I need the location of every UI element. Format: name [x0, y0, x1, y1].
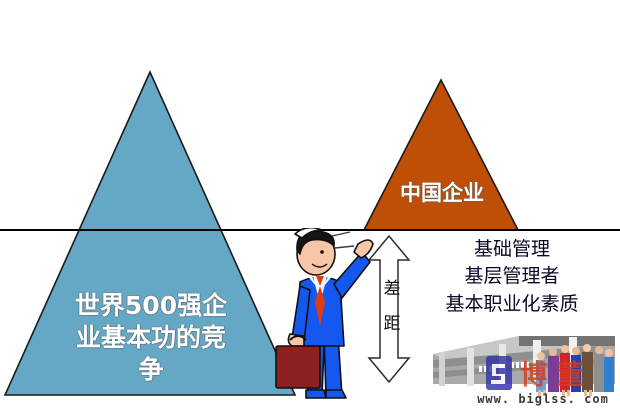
svg-text:博 董: 博 董: [520, 359, 583, 391]
pyramid-chinese-enterprise: [356, 72, 531, 236]
diagram-canvas: 世界500强企 业基本功的竞 争 中国企业 基础管理 基层管理者 基本职业化素质…: [0, 0, 620, 413]
watermark-url: www. biglss. com: [466, 392, 620, 406]
pyramid-chinese-enterprise-label: 中国企业: [372, 180, 512, 207]
gap-label: 差 距: [378, 272, 406, 342]
pyramid-world-500-label: 世界500强企 业基本功的竞 争: [36, 290, 266, 386]
businessman-pointing-icon: [266, 228, 374, 404]
watermark-logo: 博 董: [484, 352, 614, 394]
capability-list-text: 基础管理 基层管理者 基本职业化素质: [412, 236, 612, 318]
pyramid-chinese-enterprise-shape: [364, 80, 518, 230]
